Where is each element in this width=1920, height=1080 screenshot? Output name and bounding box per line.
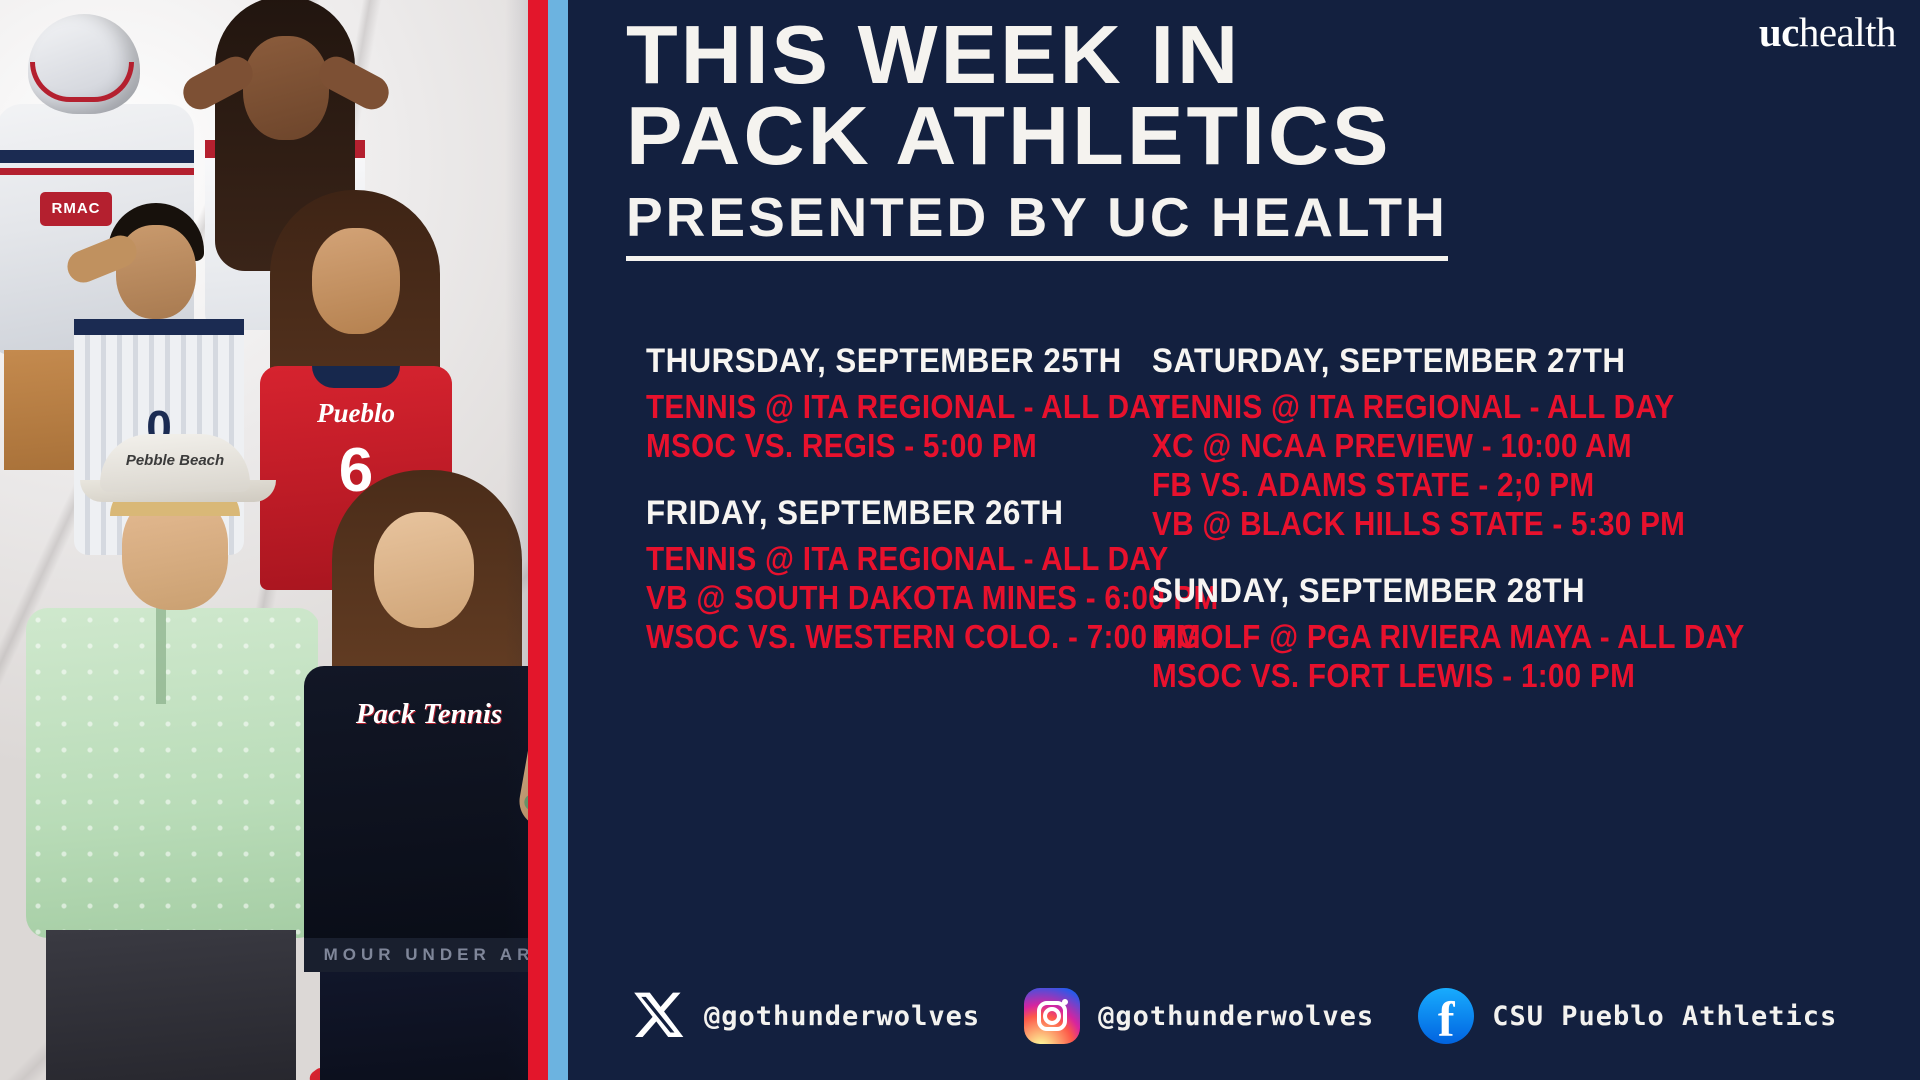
accent-stripe-blue bbox=[548, 0, 568, 1080]
day-heading: SUNDAY, SEPTEMBER 28TH bbox=[1152, 572, 1700, 611]
page-title-line2: PACK ATHLETICS bbox=[626, 95, 1646, 176]
schedule-column-right: SATURDAY, SEPTEMBER 27THTENNIS @ ITA REG… bbox=[1128, 342, 1748, 724]
volleyball-collar bbox=[312, 366, 400, 388]
uchealth-logo-health: health bbox=[1799, 9, 1896, 55]
golf-polo bbox=[26, 608, 318, 938]
main-content: uchealth THIS WEEK IN PACK ATHLETICS PRE… bbox=[568, 0, 1920, 1080]
social-instagram[interactable]: @gothunderwolves bbox=[1024, 988, 1374, 1044]
event-item: MSOC VS. FORT LEWIS - 1:00 PM bbox=[1152, 657, 1688, 696]
social-footer: @gothunderwolves @gothunderwolves f CSU … bbox=[568, 988, 1920, 1044]
uchealth-sponsor-logo: uchealth bbox=[1759, 8, 1896, 56]
event-item: WSOC VS. WESTERN COLO. - 7:00 PM bbox=[646, 618, 1080, 657]
event-item: XC @ NCAA PREVIEW - 10:00 AM bbox=[1152, 427, 1688, 466]
day-block: FRIDAY, SEPTEMBER 26THTENNIS @ ITA REGIO… bbox=[646, 494, 1128, 657]
instagram-icon bbox=[1024, 988, 1080, 1044]
facebook-glyph: f bbox=[1418, 988, 1474, 1044]
golf-hat-text: Pebble Beach bbox=[100, 452, 250, 469]
jersey-stripe-accent bbox=[0, 168, 194, 175]
day-block: SATURDAY, SEPTEMBER 27THTENNIS @ ITA REG… bbox=[1152, 342, 1748, 544]
event-item: MGOLF @ PGA RIVIERA MAYA - ALL DAY bbox=[1152, 618, 1688, 657]
social-x[interactable]: @gothunderwolves bbox=[630, 988, 980, 1044]
event-item: TENNIS @ ITA REGIONAL - ALL DAY bbox=[646, 540, 1080, 579]
accent-stripe-red bbox=[528, 0, 548, 1080]
athlete-photo-collage: RMAC PACK 0 Pueblo 6 Pebble bbox=[0, 0, 565, 1080]
volleyball-face bbox=[312, 228, 400, 334]
day-heading: SATURDAY, SEPTEMBER 27TH bbox=[1152, 342, 1700, 381]
event-item: FB VS. ADAMS STATE - 2;0 PM bbox=[1152, 466, 1688, 505]
day-block: THURSDAY, SEPTEMBER 25THTENNIS @ ITA REG… bbox=[646, 342, 1128, 466]
x-twitter-icon bbox=[630, 988, 686, 1044]
instagram-dot bbox=[1062, 999, 1068, 1005]
x-handle: @gothunderwolves bbox=[704, 1001, 980, 1032]
facebook-icon: f bbox=[1418, 988, 1474, 1044]
schedule-container: THURSDAY, SEPTEMBER 25THTENNIS @ ITA REG… bbox=[568, 342, 1920, 724]
event-item: TENNIS @ ITA REGIONAL - ALL DAY bbox=[1152, 388, 1688, 427]
golf-pants bbox=[46, 930, 296, 1080]
tennis-face bbox=[374, 512, 474, 628]
volleyball-jersey-wordmark: Pueblo bbox=[260, 398, 452, 429]
jersey-stripe bbox=[0, 150, 194, 163]
event-item: VB @ SOUTH DAKOTA MINES - 6:00 PM bbox=[646, 579, 1080, 618]
uchealth-logo-uc: uc bbox=[1759, 9, 1799, 55]
instagram-handle: @gothunderwolves bbox=[1098, 1001, 1374, 1032]
photo-golfer: Pebble Beach bbox=[0, 430, 318, 1080]
soccer-collar bbox=[74, 319, 244, 335]
page-title-line1: THIS WEEK IN bbox=[626, 14, 1646, 95]
schedule-column-left: THURSDAY, SEPTEMBER 25THTENNIS @ ITA REG… bbox=[568, 342, 1128, 724]
day-heading: THURSDAY, SEPTEMBER 25TH bbox=[646, 342, 1089, 381]
social-facebook[interactable]: f CSU Pueblo Athletics bbox=[1418, 988, 1837, 1044]
event-item: VB @ BLACK HILLS STATE - 5:30 PM bbox=[1152, 505, 1688, 544]
page-subtitle: PRESENTED BY UC HEALTH bbox=[626, 185, 1448, 261]
instagram-lens bbox=[1043, 1007, 1061, 1025]
day-block: SUNDAY, SEPTEMBER 28THMGOLF @ PGA RIVIER… bbox=[1152, 572, 1748, 696]
cheer-face bbox=[243, 36, 329, 140]
facebook-handle: CSU Pueblo Athletics bbox=[1492, 1001, 1837, 1032]
title-group: THIS WEEK IN PACK ATHLETICS PRESENTED BY… bbox=[626, 14, 1626, 261]
event-item: MSOC VS. REGIS - 5:00 PM bbox=[646, 427, 1080, 466]
golf-polo-placket bbox=[156, 608, 166, 704]
event-item: TENNIS @ ITA REGIONAL - ALL DAY bbox=[646, 388, 1080, 427]
day-heading: FRIDAY, SEPTEMBER 26TH bbox=[646, 494, 1089, 533]
